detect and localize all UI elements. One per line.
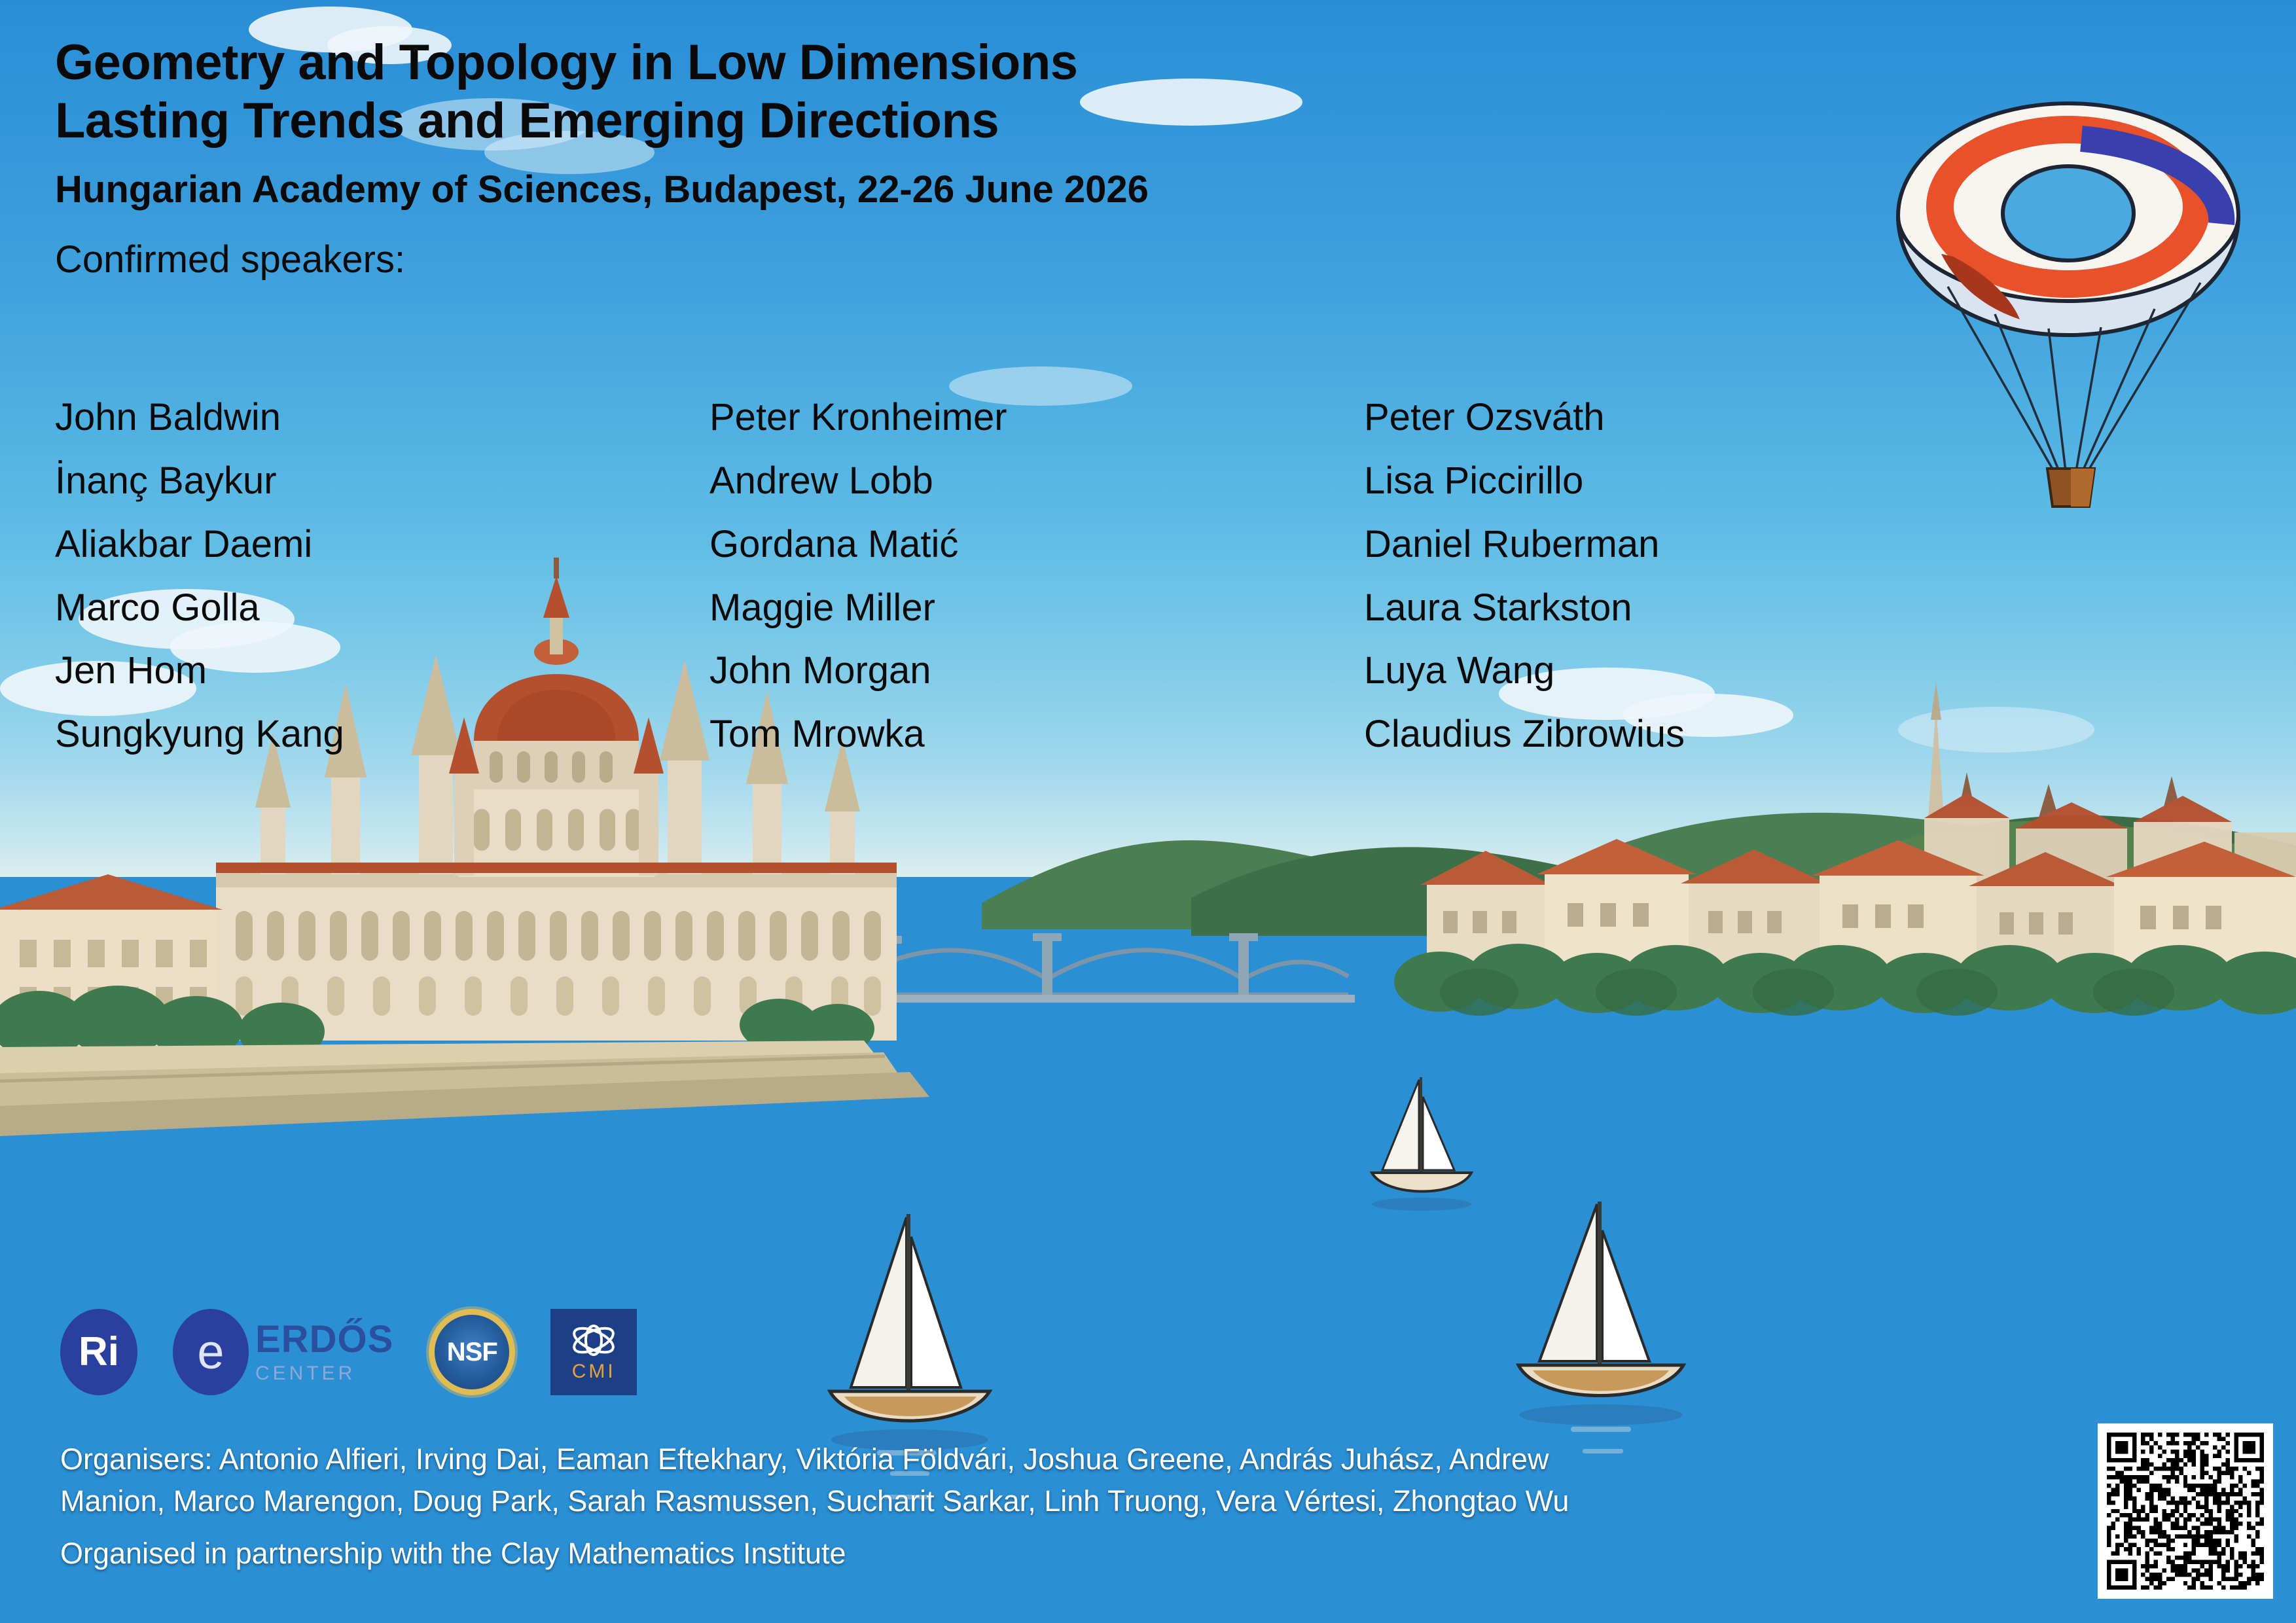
title-block: Geometry and Topology in Low Dimensions …	[55, 34, 1149, 281]
speaker-name: Maggie Miller	[709, 577, 1364, 640]
poster-title-line-1: Geometry and Topology in Low Dimensions	[55, 34, 1149, 92]
erdos-wordmark: ERDŐS CENTER	[255, 1321, 393, 1383]
speaker-name: Peter Kronheimer	[709, 386, 1364, 450]
speaker-name: Jen Hom	[55, 639, 709, 703]
renyi-institute-logo: Ri	[60, 1309, 137, 1395]
cmi-logo-label: CMI	[572, 1361, 616, 1383]
sailboat	[1518, 1202, 1683, 1425]
speaker-name: Marco Golla	[55, 577, 709, 640]
speaker-name: Luya Wang	[1364, 639, 2018, 703]
speaker-name: Andrew Lobb	[709, 450, 1364, 513]
speaker-name: Laura Starkston	[1364, 577, 2018, 640]
footer-block: Organisers: Antonio Alfieri, Irving Dai,…	[60, 1438, 1998, 1575]
speaker-column-3: Peter Ozsváth Lisa Piccirillo Daniel Rub…	[1364, 386, 2018, 766]
qr-code[interactable]	[2098, 1423, 2273, 1599]
organisers-line-2: Manion, Marco Marengon, Doug Park, Sarah…	[60, 1480, 1998, 1522]
sailboat	[830, 1214, 990, 1450]
speaker-column-1: John Baldwin İnanç Baykur Aliakbar Daemi…	[55, 386, 709, 766]
erdos-logo-label: ERDŐS	[255, 1321, 393, 1359]
partnership-line: Organised in partnership with the Clay M…	[60, 1533, 1998, 1575]
speaker-name: Lisa Piccirillo	[1364, 450, 2018, 513]
speaker-column-2: Peter Kronheimer Andrew Lobb Gordana Mat…	[709, 386, 1364, 766]
speaker-name: İnanç Baykur	[55, 450, 709, 513]
conference-poster: Geometry and Topology in Low Dimensions …	[0, 0, 2296, 1623]
speaker-name: Gordana Matić	[709, 513, 1364, 577]
speakers-list: John Baldwin İnanç Baykur Aliakbar Daemi…	[55, 386, 2018, 766]
sailboat	[1372, 1077, 1471, 1211]
speaker-name: Daniel Ruberman	[1364, 513, 2018, 577]
organisers-line-1: Organisers: Antonio Alfieri, Irving Dai,…	[60, 1438, 1998, 1480]
nsf-logo-label: NSF	[447, 1338, 497, 1367]
qr-code-canvas	[2107, 1433, 2264, 1590]
speaker-name: John Morgan	[709, 639, 1364, 703]
sponsor-logos: Ri e ERDŐS CENTER NSF CMI	[60, 1309, 637, 1395]
speaker-name: Tom Mrowka	[709, 703, 1364, 766]
erdos-mark-icon: e	[173, 1309, 249, 1395]
venue-and-date: Hungarian Academy of Sciences, Budapest,…	[55, 168, 1149, 211]
speaker-name: John Baldwin	[55, 386, 709, 450]
nsf-logo: NSF	[429, 1309, 515, 1395]
erdos-mark-letter: e	[197, 1328, 224, 1376]
speaker-name: Aliakbar Daemi	[55, 513, 709, 577]
ri-logo-label: Ri	[79, 1332, 119, 1372]
cmi-knot-icon	[569, 1321, 619, 1359]
speaker-name: Claudius Zibrowius	[1364, 703, 2018, 766]
erdos-logo-sublabel: CENTER	[255, 1364, 393, 1383]
speaker-name: Sungkyung Kang	[55, 703, 709, 766]
cmi-logo: CMI	[550, 1309, 637, 1395]
speaker-name: Peter Ozsváth	[1364, 386, 2018, 450]
erdos-center-logo: e ERDŐS CENTER	[173, 1309, 393, 1395]
poster-title-line-2: Lasting Trends and Emerging Directions	[55, 92, 1149, 151]
confirmed-speakers-label: Confirmed speakers:	[55, 238, 1149, 281]
